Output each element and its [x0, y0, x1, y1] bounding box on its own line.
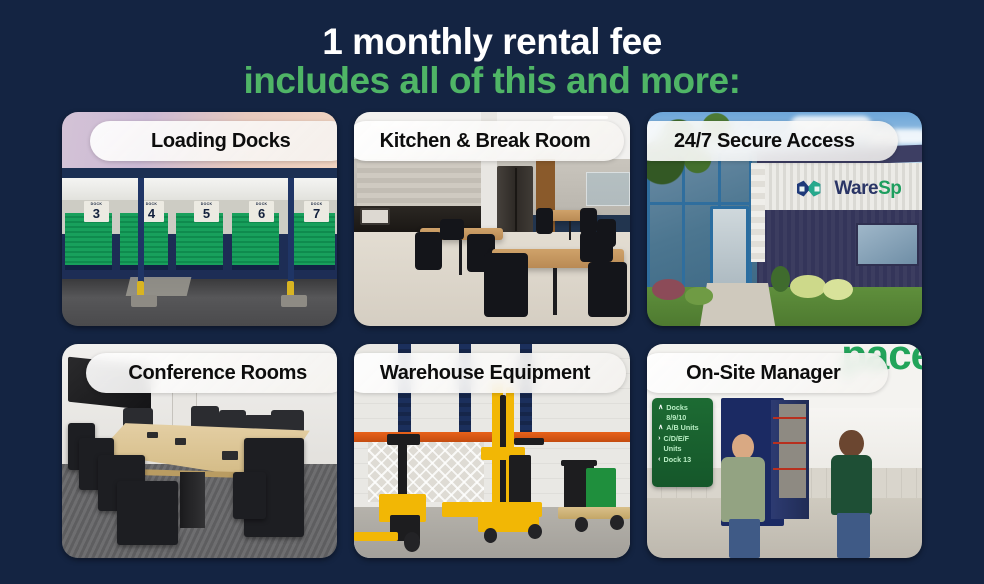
- warespace-logomark: [795, 179, 829, 199]
- dock-sign-6: DOCK 6: [249, 201, 274, 222]
- amenity-card-secure-access[interactable]: WareSp 24/7 Secure Access: [647, 112, 922, 326]
- card-label-kitchen-break-room: Kitchen & Break Room: [354, 121, 623, 161]
- headline-line-1: 1 monthly rental fee: [0, 22, 984, 61]
- promo-panel: 1 monthly rental fee includes all of thi…: [0, 0, 984, 584]
- page-title: 1 monthly rental fee includes all of thi…: [0, 0, 984, 100]
- dock-sign-3: DOCK 3: [84, 201, 109, 222]
- headline-line-2: includes all of this and more:: [0, 61, 984, 100]
- card-label-secure-access: 24/7 Secure Access: [647, 121, 898, 161]
- amenity-card-kitchen-break-room[interactable]: Kitchen & Break Room: [354, 112, 629, 326]
- card-label-loading-docks: Loading Docks: [90, 121, 337, 161]
- amenity-card-conference-rooms[interactable]: Conference Rooms: [62, 344, 337, 558]
- amenity-card-loading-docks[interactable]: DOCK 3 DOCK 4 DOCK 5 DOCK 6 DOCK 7: [62, 112, 337, 326]
- wayfinding-sign: ∧Docks 8/9/10 ∧A/B Units ›C/D/E/F Units …: [652, 398, 713, 488]
- card-label-conference-rooms: Conference Rooms: [86, 353, 337, 393]
- dock-sign-5: DOCK 5: [194, 201, 219, 222]
- card-label-on-site-manager: On-Site Manager: [647, 353, 888, 393]
- card-label-warehouse-equipment: Warehouse Equipment: [354, 353, 625, 393]
- amenity-card-grid: DOCK 3 DOCK 4 DOCK 5 DOCK 6 DOCK 7: [62, 112, 922, 558]
- amenity-card-warehouse-equipment[interactable]: Warehouse Equipment: [354, 344, 629, 558]
- amenity-card-on-site-manager[interactable]: pace ∧Docks 8/9/10 ∧A/B Units ›C/D/E/F U…: [647, 344, 922, 558]
- warespace-building-logo: WareSp: [795, 172, 901, 206]
- dock-sign-7: DOCK 7: [304, 201, 329, 222]
- warespace-logo-text: WareSp: [834, 178, 901, 200]
